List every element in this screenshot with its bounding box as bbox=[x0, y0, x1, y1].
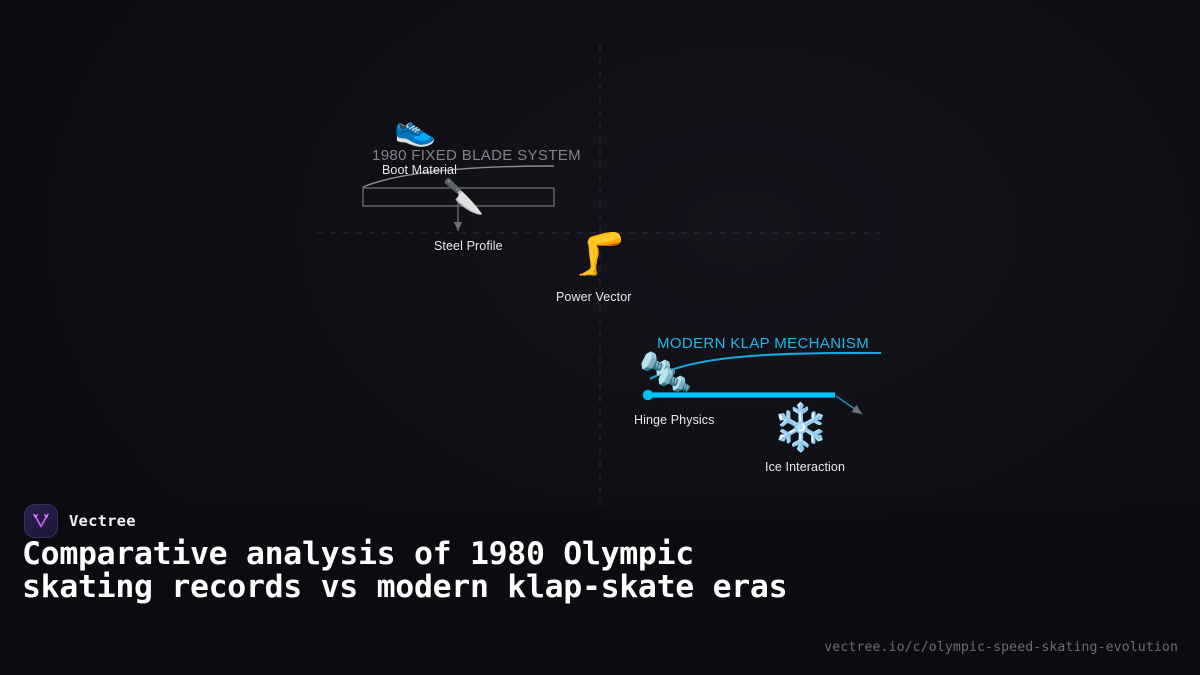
label-power-vector: Power Vector bbox=[556, 290, 632, 304]
running-shoe-icon: 👟 bbox=[394, 112, 436, 146]
footer-bar: Vectree Comparative analysis of 1980 Oly… bbox=[0, 490, 1200, 675]
klap-direction-arrow bbox=[836, 396, 862, 414]
canvas-stage: 👟 🔪 🦵 🔩 🔩 ❄️ 1980 FIXED BLADE SYSTEM MOD… bbox=[0, 0, 1200, 675]
label-boot-material: Boot Material bbox=[382, 163, 457, 177]
legacy-section-heading: 1980 FIXED BLADE SYSTEM bbox=[372, 147, 581, 164]
brand-name: Vectree bbox=[69, 512, 136, 530]
vectree-logo-icon bbox=[24, 504, 58, 538]
snowflake-icon: ❄️ bbox=[772, 404, 829, 450]
brand-row: Vectree bbox=[24, 504, 136, 538]
label-ice-interaction: Ice Interaction bbox=[765, 460, 845, 474]
footer-url: vectree.io/c/olympic-speed-skating-evolu… bbox=[824, 640, 1178, 655]
v-tree-glyph bbox=[30, 510, 52, 532]
klap-pivot-dot bbox=[643, 390, 653, 400]
page-headline: Comparative analysis of 1980 Olympic ska… bbox=[22, 538, 822, 603]
kitchen-knife-icon: 🔪 bbox=[442, 180, 484, 214]
label-steel-profile: Steel Profile bbox=[434, 239, 503, 253]
label-hinge-physics: Hinge Physics bbox=[634, 413, 715, 427]
leg-icon: 🦵 bbox=[574, 233, 626, 275]
modern-section-heading: MODERN KLAP MECHANISM bbox=[657, 335, 869, 352]
